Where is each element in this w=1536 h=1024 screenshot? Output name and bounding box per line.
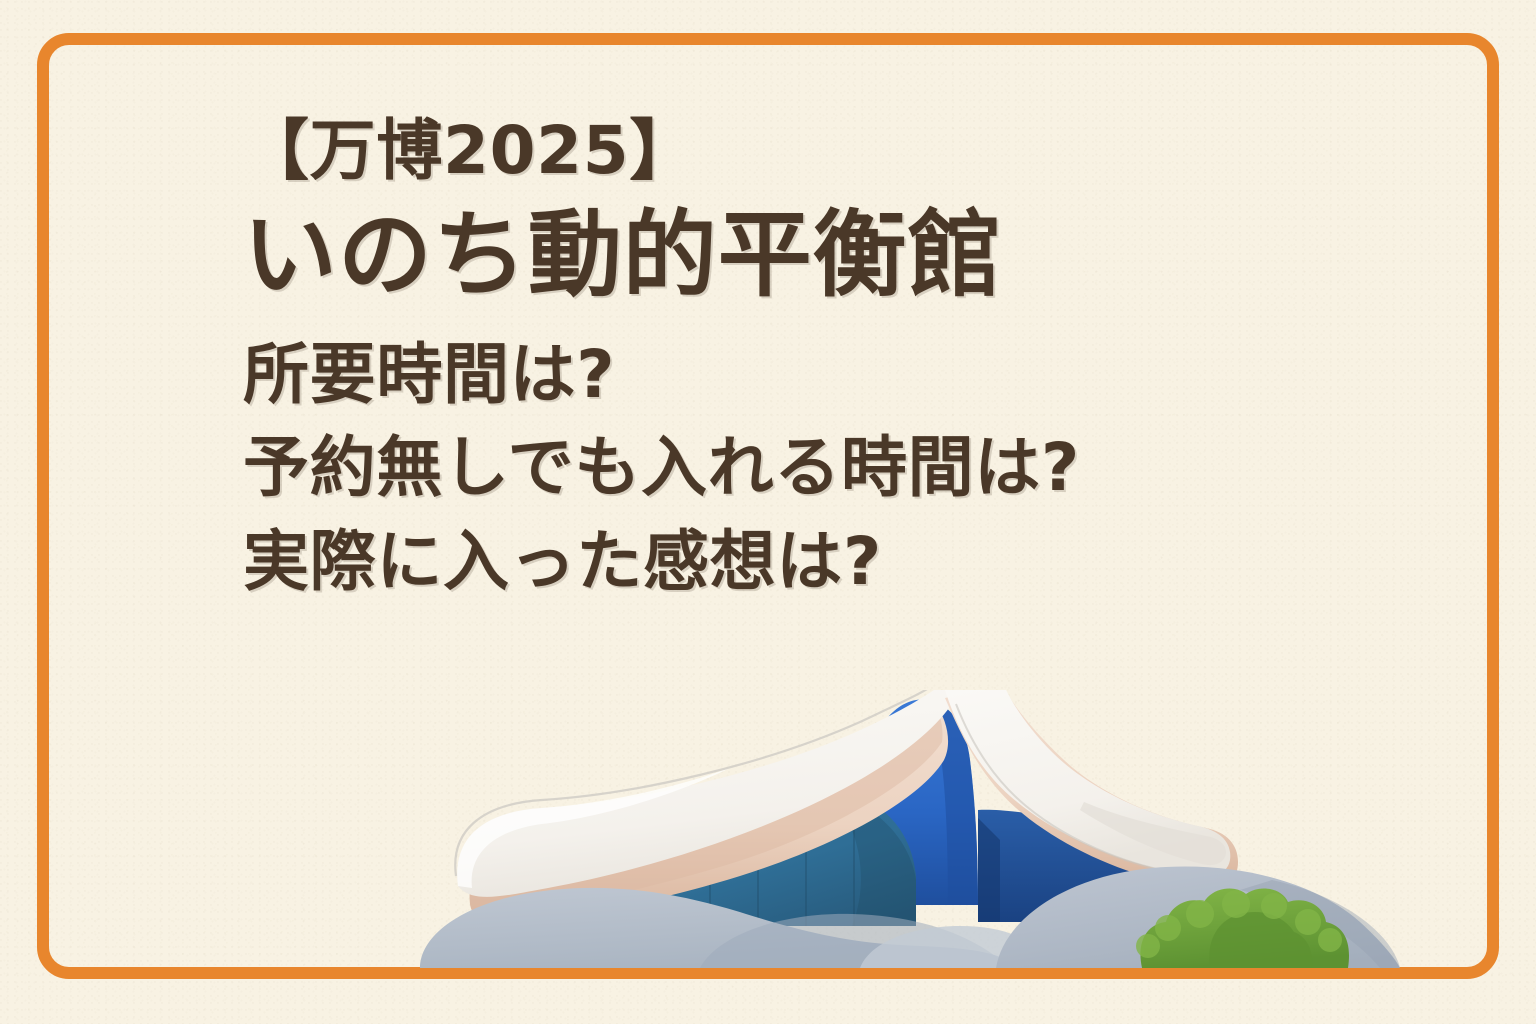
question-line-1: 所要時間は?: [243, 328, 1363, 422]
eyebrow-label: 【万博2025】: [243, 118, 1363, 184]
poster-canvas: 【万博2025】 いのち動的平衡館 所要時間は? 予約無しでも入れる時間は? 実…: [0, 0, 1536, 1024]
question-line-2: 予約無しでも入れる時間は?: [243, 421, 1363, 515]
text-block: 【万博2025】 いのち動的平衡館 所要時間は? 予約無しでも入れる時間は? 実…: [243, 118, 1363, 609]
question-line-3: 実際に入った感想は?: [243, 515, 1363, 609]
page-title: いのち動的平衡館: [243, 206, 1363, 306]
pavilion-illustration: [400, 690, 1480, 968]
